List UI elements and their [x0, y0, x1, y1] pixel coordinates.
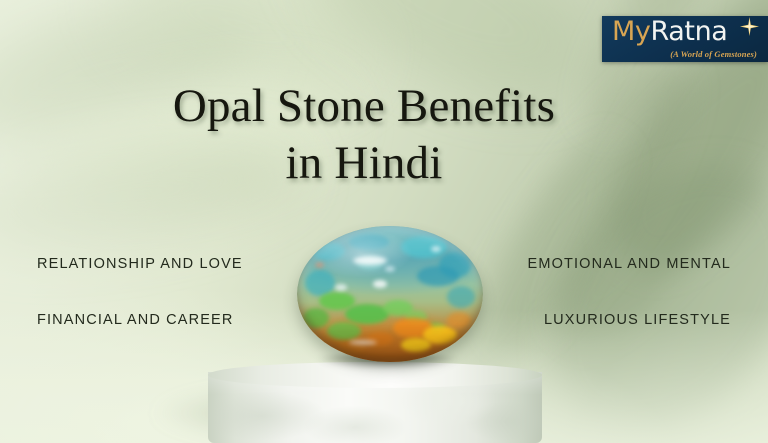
- sparkle-star-icon: [740, 17, 759, 36]
- benefit-label-emotional-and-mental: EMOTIONAL AND MENTAL: [528, 256, 731, 272]
- benefit-label-financial-and-career: FINANCIAL AND CAREER: [37, 312, 234, 328]
- myratna-logo[interactable]: MyRatna (A World of Gemstones): [602, 16, 768, 62]
- logo-word-ratna: Ratna: [650, 16, 727, 47]
- opal-stone-banner: MyRatna (A World of Gemstones) Opal Ston…: [0, 0, 768, 443]
- logo-tagline: (A World of Gemstones): [670, 49, 757, 59]
- opal-gemstone: [297, 226, 483, 362]
- page-title-line-1: Opal Stone Benefits: [173, 80, 555, 132]
- logo-wordmark: MyRatna: [612, 18, 727, 45]
- benefit-label-luxurious-lifestyle: LUXURIOUS LIFESTYLE: [544, 312, 731, 328]
- opal-rim-shading: [297, 226, 483, 362]
- benefit-label-relationship-and-love: RELATIONSHIP AND LOVE: [37, 256, 243, 272]
- page-title-line-2: in Hindi: [0, 135, 728, 192]
- logo-word-my: My: [612, 16, 650, 47]
- page-title: Opal Stone Benefits in Hindi: [0, 78, 768, 193]
